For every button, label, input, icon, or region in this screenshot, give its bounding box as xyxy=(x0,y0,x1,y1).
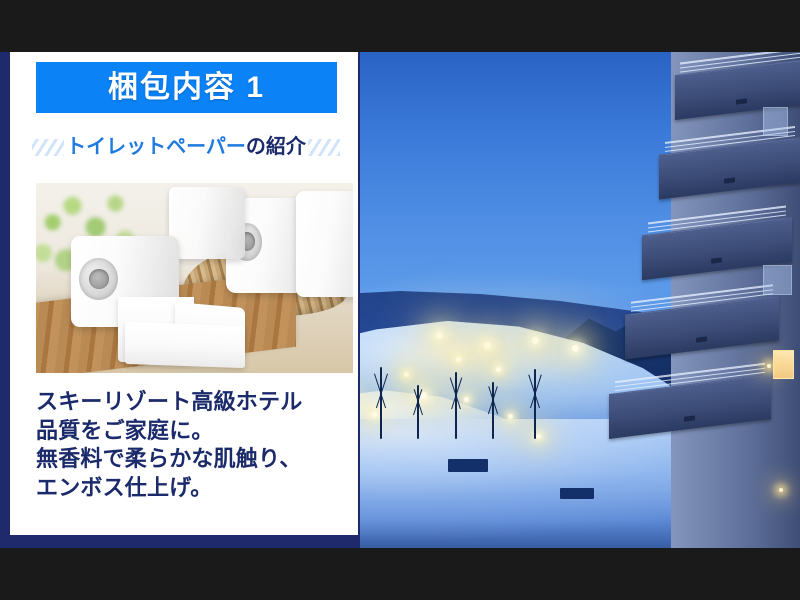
balcony-vent xyxy=(683,415,694,421)
balcony-vent xyxy=(724,177,735,183)
info-card-inner: 梱包内容 1 トイレットペーパーの紹介 xyxy=(10,52,358,535)
roll-hole xyxy=(89,269,108,289)
bare-tree xyxy=(417,385,419,439)
info-card: 梱包内容 1 トイレットペーパーの紹介 xyxy=(0,52,360,548)
balcony-vent xyxy=(696,336,707,342)
window-lit xyxy=(773,350,794,380)
subtitle-row: トイレットペーパーの紹介 xyxy=(32,132,340,162)
description-line: 品質をご家庭に。 xyxy=(36,417,348,446)
description-line: スキーリゾート高級ホテル xyxy=(36,388,348,417)
promo-slide: 梱包内容 1 トイレットペーパーの紹介 xyxy=(0,0,800,600)
window xyxy=(763,107,788,137)
toilet-paper-roll xyxy=(296,191,353,297)
apartment-building-right xyxy=(592,52,800,548)
toilet-paper-roll xyxy=(169,187,245,259)
slope-floodlight xyxy=(572,345,579,352)
paper-sheet-fold xyxy=(125,321,245,367)
balcony-vent xyxy=(711,257,722,263)
balcony-vent xyxy=(736,98,747,104)
description-text: スキーリゾート高級ホテル 品質をご家庭に。 無香料で柔らかな肌触り、 エンボス仕… xyxy=(36,388,348,502)
window xyxy=(763,265,792,295)
product-photo: 48ロール xyxy=(36,183,353,373)
description-line: 無香料で柔らかな肌触り、 xyxy=(36,445,348,474)
bare-tree xyxy=(492,382,494,439)
bare-tree xyxy=(534,369,536,439)
bare-tree xyxy=(380,367,382,438)
base-structure xyxy=(560,488,594,499)
base-lodge xyxy=(448,459,488,472)
section-banner: 梱包内容 1 xyxy=(36,62,337,113)
subtitle-rest: の紹介 xyxy=(246,136,306,158)
description-line: エンボス仕上げ。 xyxy=(36,474,348,503)
banner-title: 梱包内容 1 xyxy=(108,73,265,103)
subtitle: トイレットペーパーの紹介 xyxy=(64,137,308,157)
subtitle-highlight: トイレットペーパー xyxy=(66,136,246,158)
bare-tree xyxy=(455,372,457,439)
